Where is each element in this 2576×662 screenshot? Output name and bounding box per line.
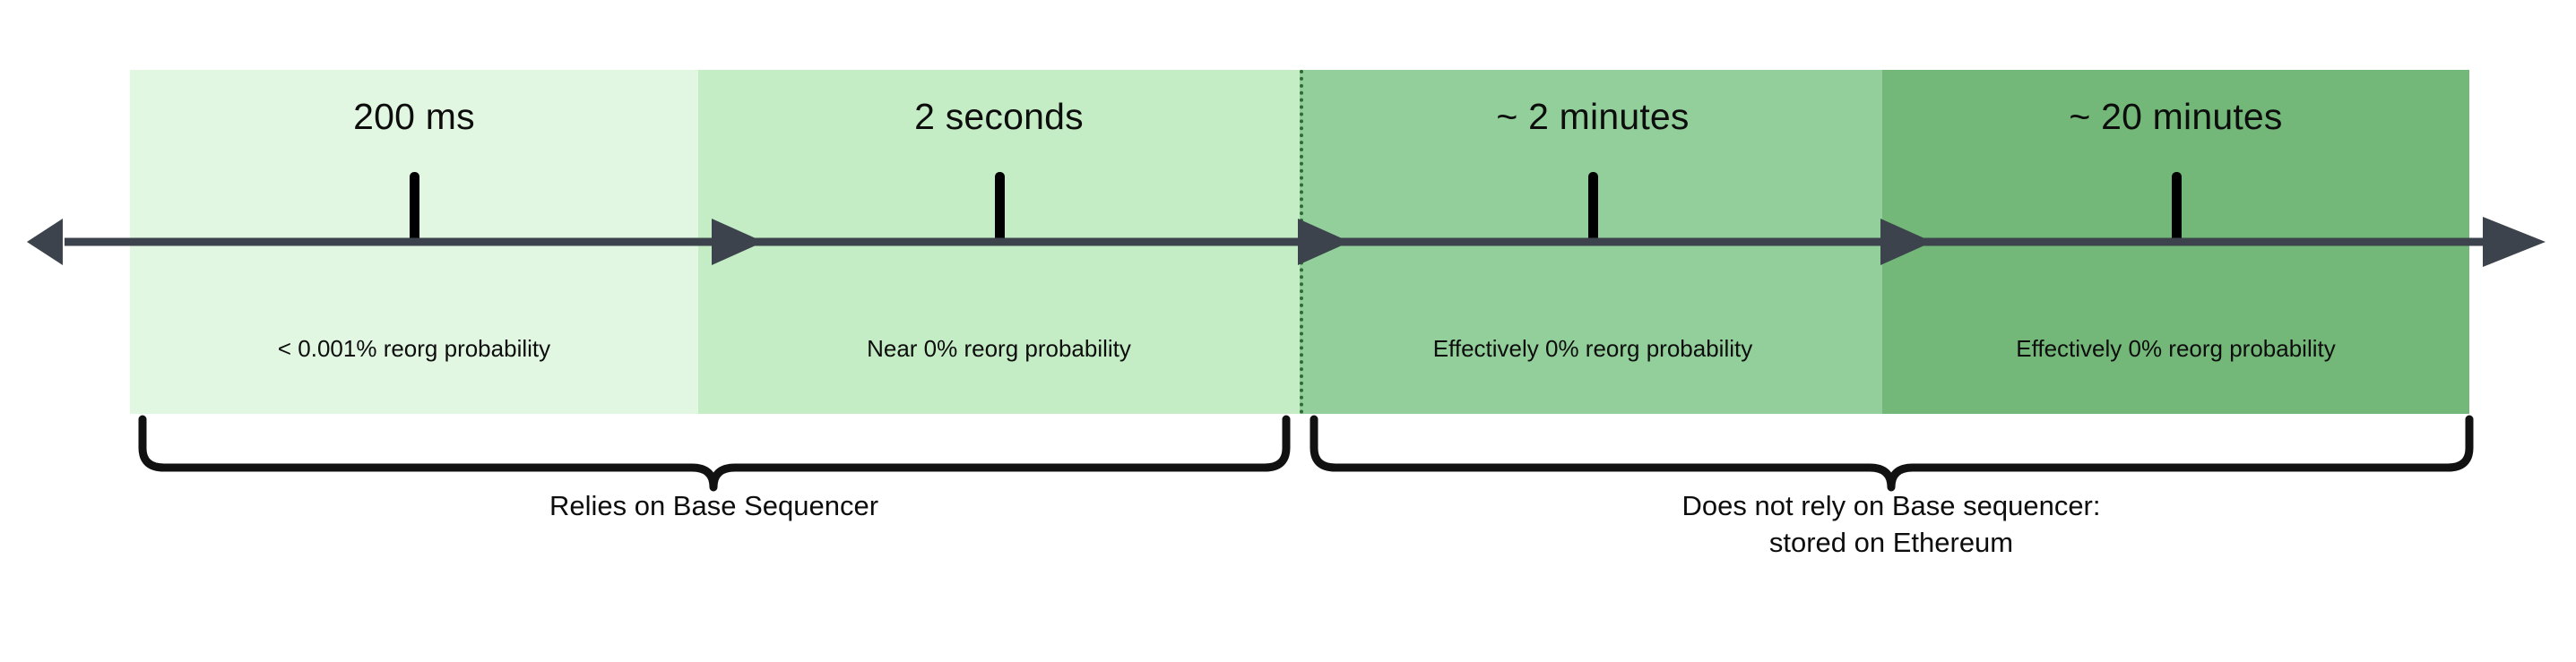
group-caption-relies-on-base-sequencer: Relies on Base Sequencer [142, 488, 1286, 525]
diagram-canvas: 200 ms < 0.001% reorg probability 2 seco… [0, 0, 2576, 662]
group-braces: Relies on Base Sequencer Does not rely o… [0, 0, 2576, 662]
brace-shapes [0, 0, 2576, 662]
brace-right [1314, 419, 2469, 487]
brace-left [143, 419, 1286, 487]
group-caption-stored-on-ethereum: Does not rely on Base sequencer: stored … [1313, 488, 2469, 562]
